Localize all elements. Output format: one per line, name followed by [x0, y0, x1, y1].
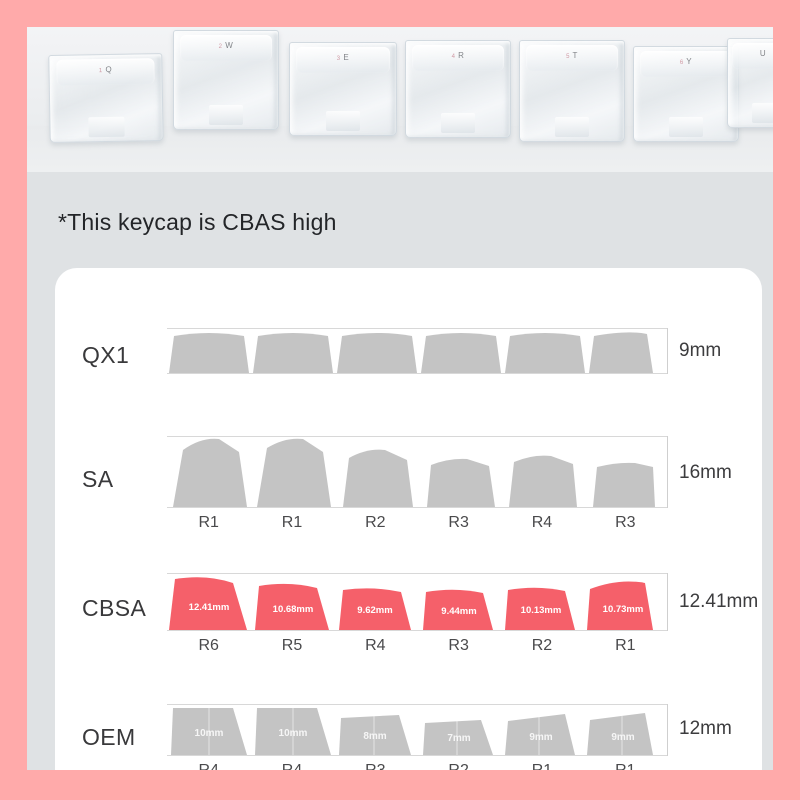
keycap-legend: 6 Y	[680, 57, 692, 66]
height-bracket-sa	[667, 436, 668, 508]
keycap-legend: 1 Q	[99, 65, 112, 74]
height-bracket-oem	[667, 704, 668, 756]
keycap-legend: 4 R	[452, 51, 465, 60]
profile-row-sa: SA 16mm R1 R1	[55, 436, 762, 526]
row-label: R1	[250, 514, 333, 532]
keycap-mainlegend: W	[225, 41, 233, 50]
product-photo: 1 Q 2 W 3 E 4 R 5 T	[27, 27, 773, 172]
photo-keycap: 6 Y	[633, 46, 739, 142]
keycap-legend: 5 T	[566, 51, 578, 60]
row-labels-sa: R1 R1 R2 R3 R4 R3	[167, 514, 667, 532]
profile-plot-cbsa: 12.41mm 10.68mm 9.62mm 9.44mm 10.13mm 10…	[167, 573, 667, 631]
keycap-mainlegend: U	[760, 49, 766, 58]
sa-keycap-shapes	[167, 436, 667, 508]
row-label: R2	[417, 762, 500, 770]
profile-name-cbsa: CBSA	[82, 595, 146, 622]
keycap-legend: 2 W	[219, 41, 234, 50]
content-frame: 1 Q 2 W 3 E 4 R 5 T	[27, 27, 773, 770]
profile-name-sa: SA	[82, 466, 113, 493]
keycap-sublegend: 5	[566, 54, 570, 60]
row-label: R4	[500, 514, 583, 532]
keycap-sublegend: 1	[99, 68, 103, 74]
height-value-cbsa: 12.41mm	[679, 591, 758, 613]
row-label: R1	[500, 762, 583, 770]
keycap-mainlegend: T	[573, 51, 578, 60]
profile-comparison-card: QX1 9mm SA	[55, 268, 762, 770]
photo-keycap: 2 W	[173, 30, 279, 130]
row-labels-cbsa: R6 R5 R4 R3 R2 R1	[167, 637, 667, 655]
keycap-legend: U	[760, 49, 766, 58]
photo-keycap: 4 R	[405, 40, 511, 138]
profile-row-qx1: QX1 9mm	[55, 328, 762, 388]
keycap-mainlegend: R	[458, 51, 464, 60]
row-label: R1	[584, 762, 667, 770]
row-label: R3	[417, 514, 500, 532]
row-label: R2	[500, 637, 583, 655]
photo-keycap: 1 Q	[48, 53, 164, 143]
keycap-height-note: *This keycap is CBAS high	[58, 209, 337, 236]
height-value-qx1: 9mm	[679, 340, 721, 362]
height-value-sa: 16mm	[679, 462, 732, 484]
row-label: R1	[584, 637, 667, 655]
keycap-sublegend: 3	[337, 56, 341, 62]
qx1-keycap-shapes	[167, 328, 667, 374]
photo-keycap: 5 T	[519, 40, 625, 142]
row-label: R5	[250, 637, 333, 655]
keycap-mainlegend: Q	[105, 65, 112, 74]
row-label: R6	[167, 637, 250, 655]
row-label: R1	[167, 514, 250, 532]
row-label: R4	[167, 762, 250, 770]
photo-keycap: 3 E	[289, 42, 397, 136]
row-labels-oem: R4 R4 R3 R2 R1 R1	[167, 762, 667, 770]
keycap-mainlegend: E	[343, 53, 349, 62]
row-label: R4	[334, 637, 417, 655]
keycap-sublegend: 2	[219, 44, 223, 50]
profile-name-qx1: QX1	[82, 342, 129, 369]
row-label: R3	[417, 637, 500, 655]
photo-keycap: U	[727, 38, 773, 128]
keycap-legend: 3 E	[337, 53, 349, 62]
profile-row-cbsa: CBSA 12.41mm 10.68mm 9.62mm	[55, 573, 762, 663]
height-value-oem: 12mm	[679, 718, 732, 740]
keycap-mainlegend: Y	[686, 57, 692, 66]
cbsa-keycap-shapes	[167, 573, 667, 631]
oem-keycap-shapes	[167, 704, 667, 756]
keycap-sublegend: 6	[680, 60, 684, 66]
row-label: R3	[584, 514, 667, 532]
profile-plot-sa	[167, 436, 667, 508]
profile-plot-oem: 10mm 10mm 8mm 7mm 9mm 9mm	[167, 704, 667, 756]
height-bracket-qx1	[667, 328, 668, 374]
profile-plot-qx1	[167, 328, 667, 374]
height-bracket-cbsa	[667, 573, 668, 631]
profile-name-oem: OEM	[82, 724, 136, 751]
keycap-sublegend: 4	[452, 54, 456, 60]
row-label: R4	[250, 762, 333, 770]
row-label: R2	[334, 514, 417, 532]
row-label: R3	[334, 762, 417, 770]
profile-row-oem: OEM	[55, 704, 762, 770]
